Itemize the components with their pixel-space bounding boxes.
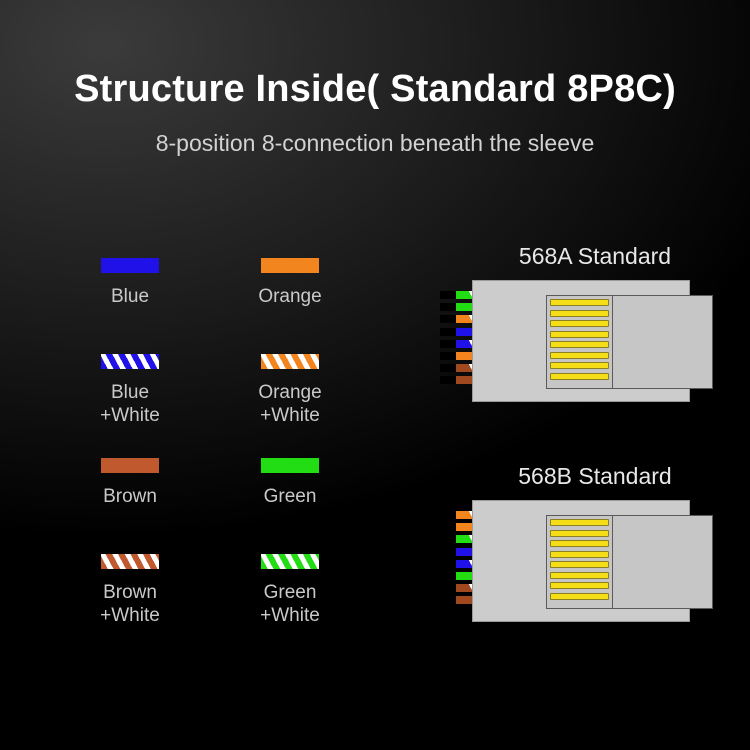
wire-end-cap xyxy=(440,364,456,372)
legend-swatch-solid-brown xyxy=(101,458,159,473)
standard-title-568a: 568A Standard xyxy=(460,243,730,270)
wire-end-cap xyxy=(440,376,456,384)
legend-item: Brown xyxy=(60,458,200,508)
wire-end-cap xyxy=(440,303,456,311)
pin-column-568b xyxy=(546,515,613,609)
gold-pin xyxy=(550,299,609,306)
legend-item: Blue xyxy=(60,258,200,308)
legend-label: Blue xyxy=(60,285,200,308)
plug-body-568b xyxy=(472,500,690,622)
wire-end-cap xyxy=(440,596,456,604)
wire-end-cap xyxy=(440,315,456,323)
legend-label: Blue +White xyxy=(60,381,200,427)
plug-inner-panel-568a xyxy=(598,295,713,389)
legend-swatch-solid-blue xyxy=(101,258,159,273)
gold-pin xyxy=(550,572,609,579)
legend-swatch-striped-blue xyxy=(101,354,159,369)
poster-canvas: Structure Inside( Standard 8P8C) 8-posit… xyxy=(0,0,750,750)
pin-column-568a xyxy=(546,295,613,389)
wire-end-cap xyxy=(440,291,456,299)
legend-label: Brown xyxy=(60,485,200,508)
wire-color-legend: BlueOrangeBlue +WhiteOrange +WhiteBrownG… xyxy=(60,258,360,638)
rj45-connector-568b xyxy=(440,500,720,625)
legend-label: Brown +White xyxy=(60,581,200,627)
legend-item: Blue +White xyxy=(60,354,200,427)
legend-swatch-striped-green xyxy=(261,554,319,569)
wire-end-cap xyxy=(440,560,456,568)
legend-item: Green +White xyxy=(220,554,360,627)
legend-label: Green +White xyxy=(220,581,360,627)
plug-body-568a xyxy=(472,280,690,402)
legend-item: Orange xyxy=(220,258,360,308)
legend-label: Green xyxy=(220,485,360,508)
standard-title-568b: 568B Standard xyxy=(460,463,730,490)
gold-pin xyxy=(550,593,609,600)
legend-swatch-striped-orange xyxy=(261,354,319,369)
wire-end-cap xyxy=(440,548,456,556)
gold-pin xyxy=(550,551,609,558)
legend-swatch-striped-brown xyxy=(101,554,159,569)
wire-end-cap xyxy=(440,535,456,543)
gold-pin xyxy=(550,341,609,348)
legend-swatch-solid-green xyxy=(261,458,319,473)
wire-end-cap xyxy=(440,340,456,348)
legend-label: Orange +White xyxy=(220,381,360,427)
standard-panel-568a: 568A Standard xyxy=(440,243,730,405)
wire-end-cap xyxy=(440,584,456,592)
gold-pin xyxy=(550,352,609,359)
standard-panel-568b: 568B Standard xyxy=(440,463,730,625)
gold-pin xyxy=(550,373,609,380)
legend-item: Brown +White xyxy=(60,554,200,627)
wire-end-cap xyxy=(440,328,456,336)
gold-pin xyxy=(550,540,609,547)
legend-swatch-solid-orange xyxy=(261,258,319,273)
wire-end-cap xyxy=(440,511,456,519)
page-subtitle: 8-position 8-connection beneath the slee… xyxy=(0,130,750,157)
legend-item: Orange +White xyxy=(220,354,360,427)
wire-end-cap xyxy=(440,523,456,531)
gold-pin xyxy=(550,310,609,317)
gold-pin xyxy=(550,561,609,568)
wire-end-cap xyxy=(440,352,456,360)
plug-inner-panel-568b xyxy=(598,515,713,609)
rj45-connector-568a xyxy=(440,280,720,405)
gold-pin xyxy=(550,530,609,537)
gold-pin xyxy=(550,362,609,369)
gold-pin xyxy=(550,320,609,327)
wire-end-cap xyxy=(440,572,456,580)
gold-pin xyxy=(550,519,609,526)
legend-label: Orange xyxy=(220,285,360,308)
page-title: Structure Inside( Standard 8P8C) xyxy=(0,68,750,111)
legend-item: Green xyxy=(220,458,360,508)
gold-pin xyxy=(550,331,609,338)
gold-pin xyxy=(550,582,609,589)
